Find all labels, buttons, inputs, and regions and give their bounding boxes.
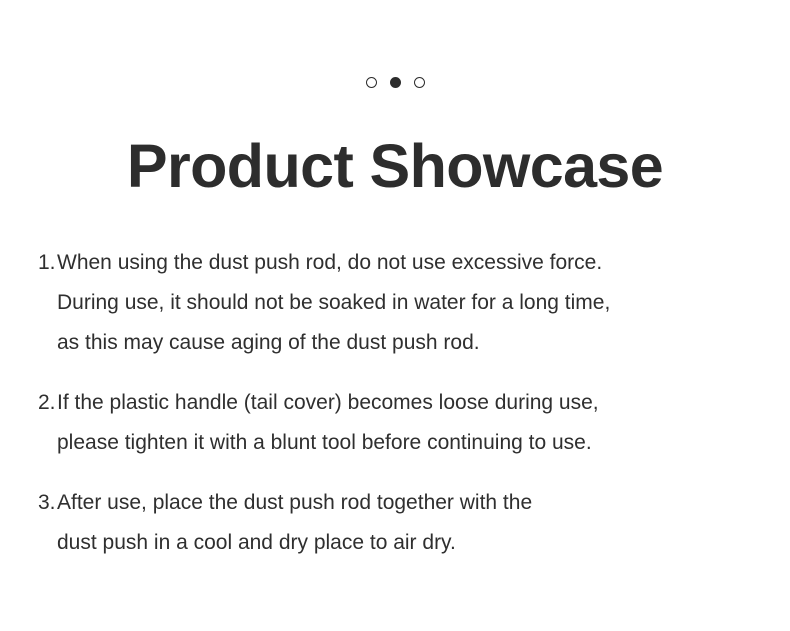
instruction-number: 2. [38, 383, 57, 423]
page-title: Product Showcase [0, 131, 790, 201]
carousel-dot-1[interactable] [366, 77, 377, 88]
instruction-item: 2.If the plastic handle (tail cover) bec… [38, 383, 768, 463]
instruction-line: After use, place the dust push rod toget… [57, 483, 768, 523]
instruction-line: When using the dust push rod, do not use… [57, 243, 768, 283]
carousel-dot-3[interactable] [414, 77, 425, 88]
instruction-number: 1. [38, 243, 57, 283]
instruction-item: 3.After use, place the dust push rod tog… [38, 483, 768, 563]
instructions-list: 1.When using the dust push rod, do not u… [38, 243, 768, 563]
carousel-dot-2-active[interactable] [390, 77, 401, 88]
instruction-line: please tighten it with a blunt tool befo… [57, 423, 768, 463]
instruction-line: as this may cause aging of the dust push… [57, 323, 768, 363]
instruction-number: 3. [38, 483, 57, 523]
product-showcase-page: Product Showcase 1.When using the dust p… [0, 0, 790, 631]
instruction-text: After use, place the dust push rod toget… [57, 483, 768, 563]
instruction-line: During use, it should not be soaked in w… [57, 283, 768, 323]
carousel-pagination-dots[interactable] [0, 77, 790, 88]
instruction-line: If the plastic handle (tail cover) becom… [57, 383, 768, 423]
instruction-item: 1.When using the dust push rod, do not u… [38, 243, 768, 363]
instruction-text: When using the dust push rod, do not use… [57, 243, 768, 363]
instruction-text: If the plastic handle (tail cover) becom… [57, 383, 768, 463]
instruction-line: dust push in a cool and dry place to air… [57, 523, 768, 563]
